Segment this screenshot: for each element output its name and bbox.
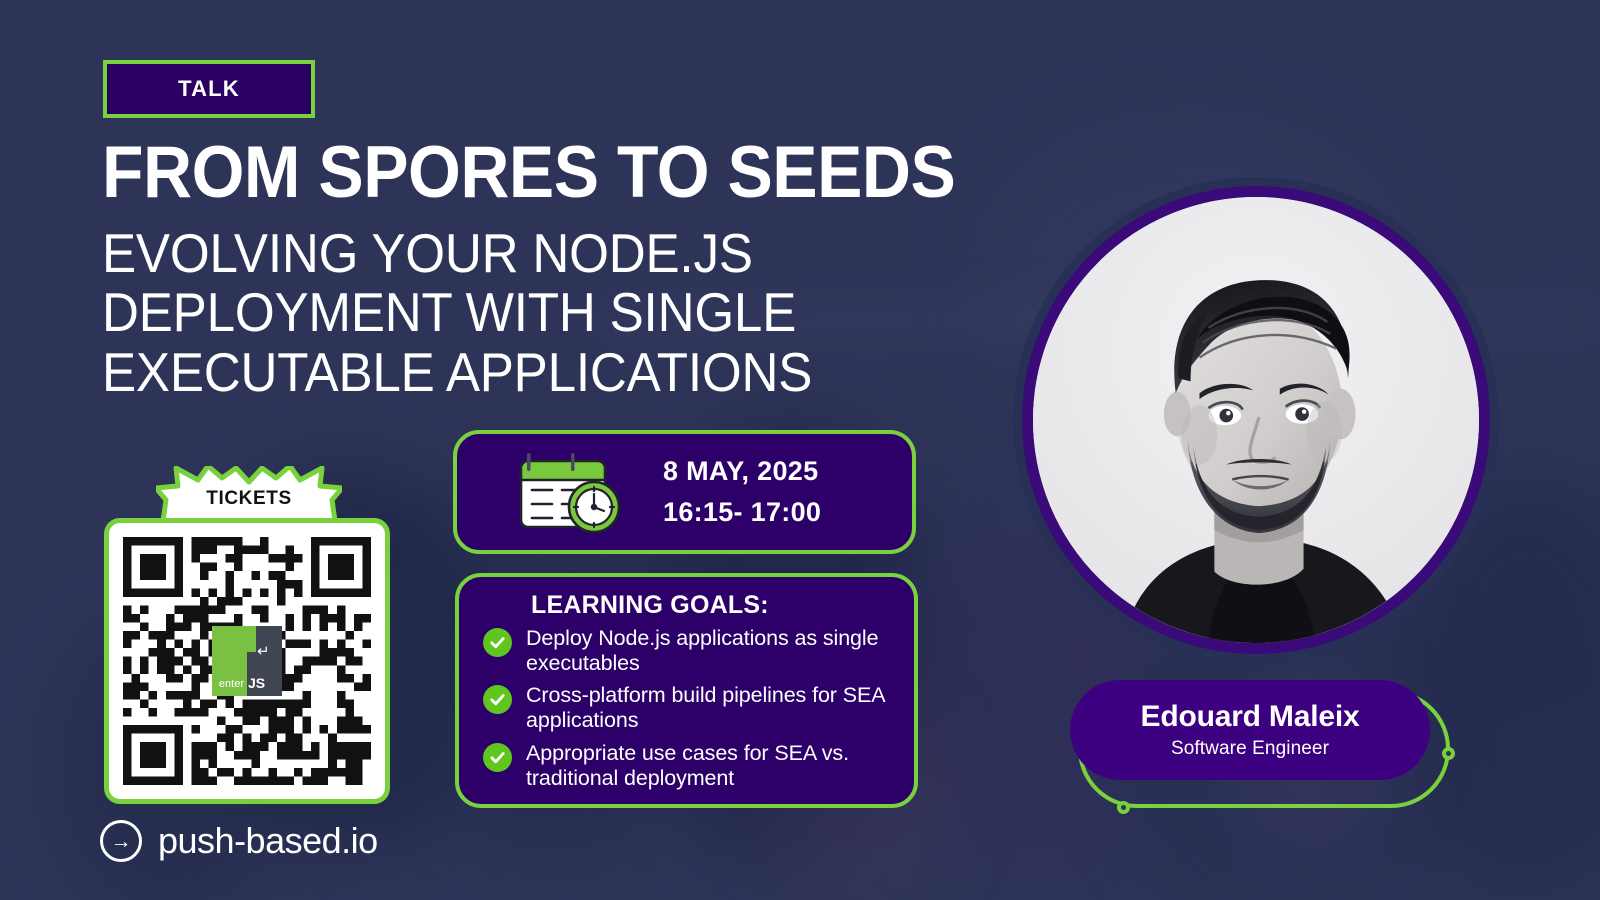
check-glyph [489, 749, 506, 766]
website-url-label: push-based.io [158, 820, 378, 862]
speaker-portrait-image [1033, 197, 1479, 643]
arrow-right-circle-icon: → [100, 820, 142, 862]
talk-type-badge: TALK [103, 60, 315, 118]
speaker-avatar [1022, 186, 1490, 654]
logo-return-arrow-icon: ↵ [257, 642, 270, 660]
ticket-qr-code[interactable]: enter ↵ JS [104, 518, 390, 804]
logo-notch [246, 626, 256, 652]
check-circle-icon [483, 628, 512, 657]
calendar-clock-icon [519, 449, 629, 535]
list-item: Deploy Node.js applications as single ex… [483, 626, 888, 676]
logo-enter-text: enter [219, 678, 244, 690]
talk-type-label: TALK [178, 76, 240, 102]
list-item: Cross-platform build pipelines for SEA a… [483, 683, 888, 733]
logo-dark-block: ↵ JS [247, 626, 282, 696]
page-subtitle: EVOLVING YOUR NODE.JS DEPLOYMENT WITH SI… [102, 224, 1032, 402]
title-block: FROM SPORES TO SEEDS EVOLVING YOUR NODE.… [102, 138, 1102, 402]
check-circle-icon [483, 743, 512, 772]
date-time-card: 8 MAY, 2025 16:15- 17:00 [453, 430, 916, 554]
subtitle-line: EXECUTABLE APPLICATIONS [102, 343, 1032, 402]
check-circle-icon [483, 685, 512, 714]
learning-goal-text: Cross-platform build pipelines for SEA a… [526, 683, 888, 733]
event-time: 16:15- 17:00 [663, 497, 821, 528]
enterjs-logo-icon: enter ↵ JS [212, 626, 282, 696]
check-glyph [489, 691, 506, 708]
arrow-glyph: → [111, 831, 132, 852]
logo-green-block: enter [212, 626, 247, 696]
list-item: Appropriate use cases for SEA vs. tradit… [483, 741, 888, 791]
circuit-node-dot [1117, 801, 1130, 814]
learning-goals-title: LEARNING GOALS: [531, 591, 888, 620]
learning-goal-text: Deploy Node.js applications as single ex… [526, 626, 888, 676]
circuit-node-dot [1442, 747, 1455, 760]
learning-goal-text: Appropriate use cases for SEA vs. tradit… [526, 741, 888, 791]
speaker-name: Edouard Maleix [1141, 700, 1360, 734]
page-title: FROM SPORES TO SEEDS [102, 138, 1032, 208]
subtitle-line: DEPLOYMENT WITH SINGLE [102, 283, 1032, 342]
speaker-name-badge: Edouard Maleix Software Engineer [1070, 680, 1460, 820]
subtitle-line: EVOLVING YOUR NODE.JS [102, 224, 1032, 283]
date-time-text: 8 MAY, 2025 16:15- 17:00 [663, 456, 821, 528]
check-glyph [489, 634, 506, 651]
website-link[interactable]: → push-based.io [100, 820, 378, 862]
speaker-info-pill: Edouard Maleix Software Engineer [1070, 680, 1430, 780]
learning-goals-card: LEARNING GOALS: Deploy Node.js applicati… [455, 573, 918, 808]
logo-js-text: JS [248, 675, 265, 691]
event-date: 8 MAY, 2025 [663, 456, 821, 487]
speaker-role: Software Engineer [1171, 738, 1329, 760]
tickets-label: TICKETS [156, 488, 342, 510]
